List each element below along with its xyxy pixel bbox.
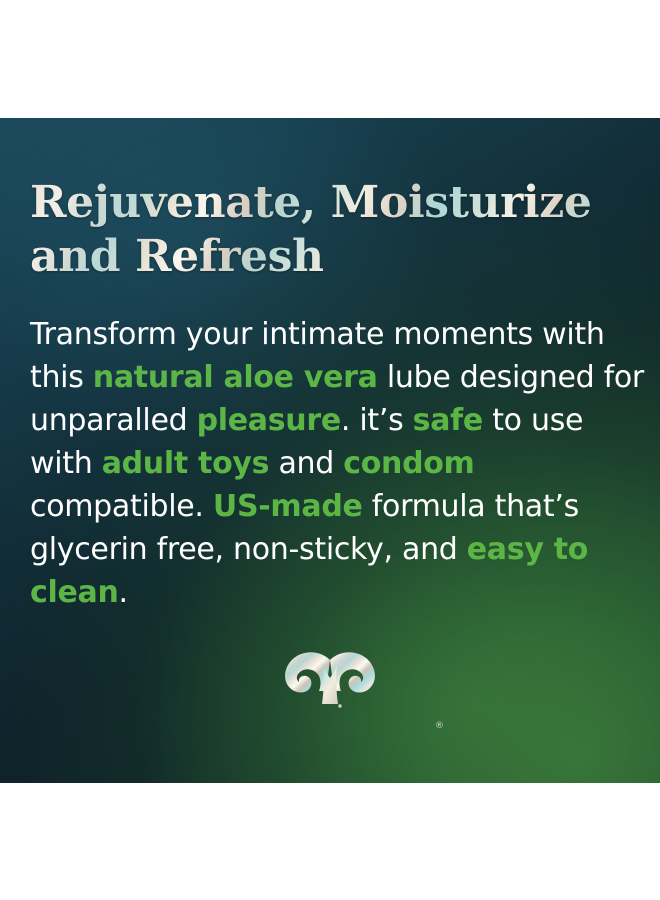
body-highlight-11: US-made — [213, 489, 363, 524]
body-text-8: and — [269, 446, 343, 481]
body-paragraph: Transform your intimate moments with thi… — [30, 313, 644, 614]
wordmark-text: PROMESCENT — [226, 719, 434, 747]
body-highlight-1: natural aloe vera — [93, 360, 378, 395]
headline-line-1: Rejuvenate, Moisturize — [30, 177, 591, 228]
body-text-14: . — [119, 575, 128, 610]
promescent-wordmark: PROMESCENT® — [226, 719, 434, 747]
body-highlight-3: pleasure — [197, 403, 341, 438]
body-text-10: compatible. — [30, 489, 213, 524]
body-text-4: . it’s — [341, 403, 413, 438]
trademark-symbol: ® — [435, 721, 444, 731]
headline-line-2: and Refresh — [30, 231, 324, 282]
body-highlight-7: adult toys — [102, 446, 270, 481]
headline: Rejuvenate, Moisturize and Refresh — [30, 176, 630, 284]
body-highlight-9: condom — [343, 446, 474, 481]
promescent-ram-horn-mark — [276, 648, 384, 712]
brand-logo: PROMESCENT® — [0, 648, 660, 747]
image-canvas: Rejuvenate, Moisturize and Refresh Trans… — [0, 0, 660, 900]
body-highlight-5: safe — [413, 403, 483, 438]
